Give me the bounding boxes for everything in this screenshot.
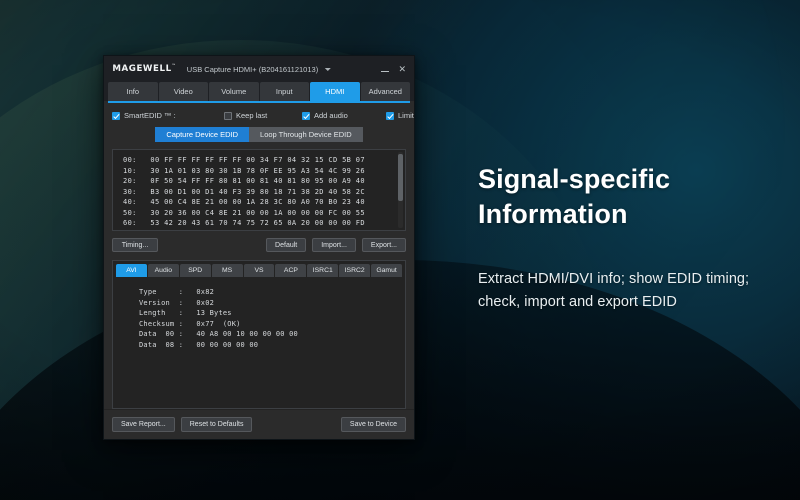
- checkbox-checked-icon[interactable]: [386, 112, 394, 120]
- minimize-icon: [381, 71, 389, 72]
- infoframe-tab-avi[interactable]: AVI: [116, 264, 147, 277]
- hex-dump-scrollbar-thumb[interactable]: [398, 154, 403, 201]
- hex-row: 30: B3 00 D1 00 D1 40 F3 39 80 18 71 38 …: [123, 187, 401, 198]
- infoframe-field: Type : 0x82: [139, 287, 405, 298]
- checkbox-smartedid[interactable]: SmartEDID ™ :: [112, 111, 224, 120]
- infoframe-tab-gamut[interactable]: Gamut: [371, 264, 402, 277]
- checkbox-label: Limited pixel clock: [398, 111, 415, 120]
- hex-row: 70: 00 19 78 0C FF 22 00 0A 20 20 20 20 …: [123, 229, 401, 232]
- logo-trademark: ™: [172, 64, 177, 69]
- hex-row: 60: 53 42 20 43 61 70 74 75 72 65 0A 20 …: [123, 218, 401, 229]
- edid-actions-row: Timing... Default Import... Export...: [112, 238, 406, 252]
- tab-info[interactable]: Info: [108, 82, 158, 101]
- promo-body: Extract HDMI/DVI info; show EDID timing;…: [478, 268, 778, 314]
- infoframe-field: Version : 0x02: [139, 298, 405, 309]
- infoframe-panel: AVIAudioSPDMSVSACPISRC1ISRC2Gamut Type :…: [112, 260, 406, 409]
- promo-text-block: Signal-specific Information Extract HDMI…: [478, 162, 778, 314]
- edid-hex-dump-panel[interactable]: 00: 00 FF FF FF FF FF FF 00 34 F7 04 32 …: [112, 149, 406, 231]
- device-selector[interactable]: USB Capture HDMI+ (B204161121013): [187, 65, 331, 74]
- window-footer: Save Report... Reset to Defaults Save to…: [104, 409, 414, 439]
- checkbox-label: Add audio: [314, 111, 348, 120]
- infoframe-tab-spd[interactable]: SPD: [180, 264, 211, 277]
- infoframe-field: Length : 13 Bytes: [139, 308, 405, 319]
- hex-row: 40: 45 00 C4 8E 21 00 00 1A 28 3C 80 A0 …: [123, 197, 401, 208]
- checkbox-label: SmartEDID ™ :: [124, 111, 176, 120]
- device-name: USB Capture HDMI+ (B204161121013): [187, 65, 318, 74]
- reset-to-defaults-button[interactable]: Reset to Defaults: [181, 417, 253, 432]
- infoframe-tab-isrc2[interactable]: ISRC2: [339, 264, 370, 277]
- timing-button[interactable]: Timing...: [112, 238, 158, 252]
- checkbox-add-audio[interactable]: Add audio: [302, 111, 386, 120]
- checkbox-empty-icon[interactable]: [224, 112, 232, 120]
- hex-dump-scrollbar[interactable]: [398, 152, 403, 228]
- promo-heading: Signal-specific Information: [478, 162, 778, 232]
- logo-text: MAGEWELL: [112, 64, 171, 74]
- close-button[interactable]: ✕: [398, 65, 406, 74]
- hex-row: 20: 0F 50 54 FF FF 80 81 00 81 40 81 80 …: [123, 176, 401, 187]
- infoframe-field: Data 08 : 00 00 00 00 00: [139, 340, 405, 351]
- edid-hex-lines: 00: 00 FF FF FF FF FF FF 00 34 F7 04 32 …: [123, 155, 401, 231]
- hex-row: 50: 30 20 36 00 C4 8E 21 00 00 1A 00 00 …: [123, 208, 401, 219]
- infoframe-tab-isrc1[interactable]: ISRC1: [307, 264, 338, 277]
- edid-mode-segmented-control: Capture Device EDID Loop Through Device …: [112, 127, 406, 142]
- loop-through-device-edid-button[interactable]: Loop Through Device EDID: [249, 127, 363, 142]
- infoframe-tab-vs[interactable]: VS: [244, 264, 275, 277]
- checkbox-label: Keep last: [236, 111, 267, 120]
- checkbox-checked-icon[interactable]: [112, 112, 120, 120]
- tab-advanced[interactable]: Advanced: [361, 82, 411, 101]
- infoframe-tab-audio[interactable]: Audio: [148, 264, 179, 277]
- infoframe-details: Type : 0x82Version : 0x02Length : 13 Byt…: [113, 277, 405, 408]
- infoframe-tab-acp[interactable]: ACP: [275, 264, 306, 277]
- tab-volume[interactable]: Volume: [209, 82, 259, 101]
- tab-hdmi[interactable]: HDMI: [310, 82, 360, 101]
- infoframe-tabbar: AVIAudioSPDMSVSACPISRC1ISRC2Gamut: [113, 261, 405, 277]
- checkbox-keep-last[interactable]: Keep last: [224, 111, 302, 120]
- minimize-button[interactable]: [381, 65, 389, 74]
- tab-video[interactable]: Video: [159, 82, 209, 101]
- window-titlebar: MAGEWELL™ USB Capture HDMI+ (B2041611210…: [104, 56, 414, 82]
- infoframe-field: Checksum : 0x77 (OK): [139, 319, 405, 330]
- save-report-button[interactable]: Save Report...: [112, 417, 175, 432]
- hdmi-tab-panel: SmartEDID ™ :Keep lastAdd audioLimited p…: [104, 103, 414, 409]
- smartedid-options-row: SmartEDID ™ :Keep lastAdd audioLimited p…: [112, 111, 406, 120]
- save-to-device-button[interactable]: Save to Device: [341, 417, 406, 432]
- hex-row: 10: 30 1A 01 03 80 30 1B 78 0F EE 95 A3 …: [123, 166, 401, 177]
- export-button[interactable]: Export...: [362, 238, 406, 252]
- import-button[interactable]: Import...: [312, 238, 356, 252]
- magewell-control-window: MAGEWELL™ USB Capture HDMI+ (B2041611210…: [103, 55, 415, 440]
- main-tabbar: InfoVideoVolumeInputHDMIAdvanced: [104, 82, 414, 101]
- magewell-logo: MAGEWELL™: [112, 64, 176, 74]
- hex-row: 00: 00 FF FF FF FF FF FF 00 34 F7 04 32 …: [123, 155, 401, 166]
- tab-input[interactable]: Input: [260, 82, 310, 101]
- infoframe-tab-ms[interactable]: MS: [212, 264, 243, 277]
- checkbox-checked-icon[interactable]: [302, 112, 310, 120]
- capture-device-edid-button[interactable]: Capture Device EDID: [155, 127, 249, 142]
- infoframe-field: Data 00 : 40 A8 00 10 00 00 00 00: [139, 329, 405, 340]
- chevron-down-icon[interactable]: [325, 68, 331, 71]
- default-button[interactable]: Default: [266, 238, 306, 252]
- window-controls: ✕: [381, 65, 409, 74]
